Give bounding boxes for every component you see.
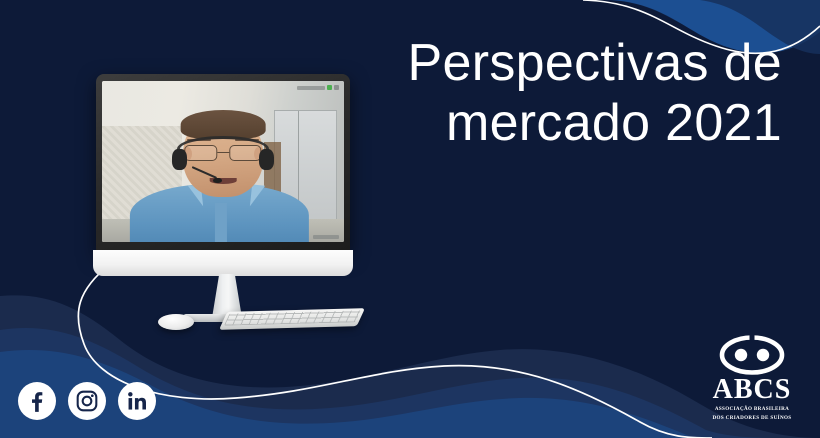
abcs-logo: ABCS ASSOCIAÇÃO BRASILEIRA DOS CRIADORES… <box>704 335 800 422</box>
linkedin-icon[interactable] <box>118 382 156 420</box>
video-app-statusbar <box>313 235 339 239</box>
headset-earcup-left <box>172 149 187 170</box>
instagram-icon[interactable] <box>68 382 106 420</box>
shirt-placket <box>215 203 227 242</box>
monitor-chin <box>93 250 353 276</box>
video-call-screen <box>102 81 344 242</box>
page-title: Perspectivas de mercado 2021 <box>312 34 782 154</box>
social-links <box>18 382 156 420</box>
headset-headband <box>177 136 269 162</box>
presenter-hair <box>181 110 266 139</box>
headset-mic-tip <box>213 178 221 184</box>
presenter <box>102 81 344 242</box>
title-line-1: Perspectivas de <box>312 34 782 94</box>
title-line-2: mercado 2021 <box>312 94 782 154</box>
promo-banner: Perspectivas de mercado 2021 <box>0 0 820 438</box>
keyboard <box>219 308 365 330</box>
mouse <box>158 314 194 330</box>
logo-tagline-line1: ASSOCIAÇÃO BRASILEIRA <box>704 406 800 413</box>
logo-tagline-line2: DOS CRIADORES DE SUÍNOS <box>704 415 800 422</box>
headset-earcup-right <box>259 149 274 170</box>
facebook-icon[interactable] <box>18 382 56 420</box>
shirt-collar-right <box>250 184 265 207</box>
logo-wordmark: ABCS <box>704 376 800 404</box>
pig-snout-icon <box>719 335 785 375</box>
